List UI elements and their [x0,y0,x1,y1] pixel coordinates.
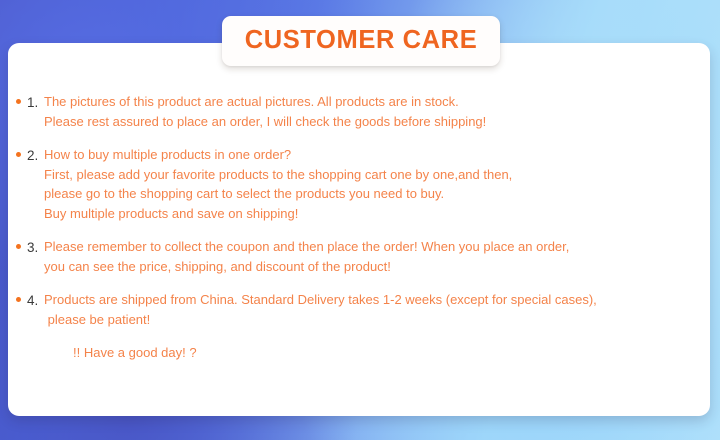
list-item-marker: 1. [16,92,44,113]
list-item-number: 3. [27,238,44,258]
list-item: 2. How to buy multiple products in one o… [16,145,706,223]
bullet-icon [16,99,21,104]
list-item-line: please be patient! [44,310,706,330]
list-item-line: The pictures of this product are actual … [44,92,706,112]
list-item-line: Please rest assured to place an order, I… [44,112,706,132]
list-item-line: you can see the price, shipping, and dis… [44,257,706,277]
list-item: 3. Please remember to collect the coupon… [16,237,706,276]
page-title: CUSTOMER CARE [245,28,478,54]
list-item-number: 1. [27,93,44,113]
list-item: 4. Products are shipped from China. Stan… [16,290,706,329]
list-item-number: 4. [27,291,44,311]
bullet-icon [16,152,21,157]
list-item-marker: 2. [16,145,44,166]
list-item-line: please go to the shopping cart to select… [44,184,706,204]
list-item-line: First, please add your favorite products… [44,165,706,185]
list-item-line: Please remember to collect the coupon an… [44,237,706,257]
list-item-number: 2. [27,146,44,166]
title-plaque: CUSTOMER CARE [222,16,500,66]
list-item-body: How to buy multiple products in one orde… [44,145,706,223]
list-item-marker: 4. [16,290,44,311]
customer-care-banner: CUSTOMER CARE 1. The pic [0,0,720,440]
list-item-body: The pictures of this product are actual … [44,92,706,131]
list-item-body: Products are shipped from China. Standar… [44,290,706,329]
list-item-marker: 3. [16,237,44,258]
list-item: 1. The pictures of this product are actu… [16,92,706,131]
faq-list: 1. The pictures of this product are actu… [16,92,706,363]
list-item-line: Products are shipped from China. Standar… [44,290,706,310]
bullet-icon [16,297,21,302]
bullet-icon [16,244,21,249]
closing-message: !! Have a good day! ? [73,343,706,363]
list-item-line: How to buy multiple products in one orde… [44,145,706,165]
list-item-line: Buy multiple products and save on shippi… [44,204,706,224]
list-item-body: Please remember to collect the coupon an… [44,237,706,276]
